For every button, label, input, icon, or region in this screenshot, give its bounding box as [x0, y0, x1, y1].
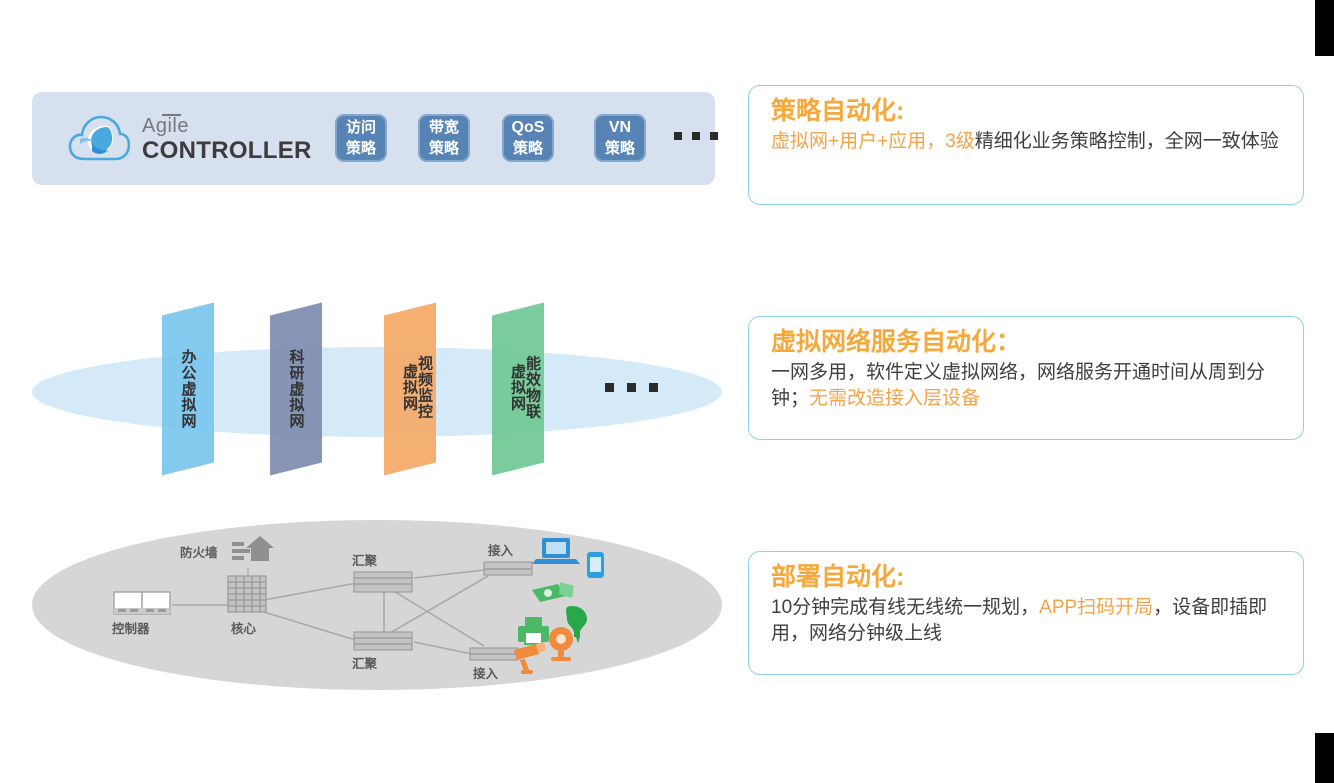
card-vn-service-body: 一网多用，软件定义虚拟网络，网络服务开通时间从周到分钟；无需改造接入层设备	[771, 360, 1287, 412]
logo-macron	[162, 114, 181, 116]
virtual-networks-diagram: 办公虚拟网 科研虚拟网 视频监控 虚拟网 能效物联 虚拟网	[32, 295, 722, 490]
vn-plane-office-label: 办公虚拟网	[181, 349, 196, 429]
aggregation-lower-icon	[354, 632, 412, 650]
cctv-camera-icon	[514, 642, 546, 674]
policy-chip-vn[interactable]: VN 策略	[594, 114, 646, 162]
card-reader-icon	[532, 582, 574, 602]
policy-chip-access-line2: 策略	[346, 138, 376, 159]
virtual-network-fabric-ellipse	[32, 347, 722, 437]
policy-chip-qos-line1: QoS	[512, 117, 545, 138]
controller-node-icon	[114, 592, 170, 614]
vn-plane-office: 办公虚拟网	[162, 303, 214, 476]
slide-canvas: Agile CONTROLLER 访问 策略 带宽 策略 QoS 策略 VN 策…	[0, 0, 1334, 783]
tablet-icon	[587, 552, 604, 578]
vn-plane-energy-iot: 能效物联 虚拟网	[492, 303, 544, 476]
policy-chip-access-line1: 访问	[346, 117, 376, 138]
card-deployment-automation: 部署自动化: 10分钟完成有线无线统一规划，APP扫码开局，设备即插即用，网络分…	[748, 551, 1304, 675]
vn-plane-video-surveillance: 视频监控 虚拟网	[384, 303, 436, 476]
more-dot	[692, 132, 700, 140]
printer-icon	[518, 617, 549, 644]
card-vn-service-title: 虚拟网络服务自动化：	[771, 327, 1287, 358]
access-upper-icon	[484, 562, 532, 575]
policy-chip-qos[interactable]: QoS 策略	[502, 114, 554, 162]
policy-chip-bandwidth-line2: 策略	[429, 138, 459, 159]
card-deployment-body: 10分钟完成有线无线统一规划，APP扫码开局，设备即插即用，网络分钟级上线	[771, 595, 1287, 647]
core-switch-icon	[228, 576, 266, 612]
more-dot	[674, 132, 682, 140]
topology-label-core: 核心	[231, 618, 256, 637]
policy-chip-qos-line2: 策略	[513, 138, 543, 159]
more-dot	[649, 383, 658, 392]
topology-label-controller: 控制器	[112, 618, 150, 637]
logo-controller-text: CONTROLLER	[142, 139, 312, 163]
topology-label-firewall: 防火墙	[180, 542, 218, 561]
vn-plane-energy-iot-sublabel: 虚拟网	[510, 363, 525, 411]
topology-label-aggregation-lower: 汇聚	[352, 653, 377, 672]
logo-wordmark: Agile CONTROLLER	[142, 116, 312, 163]
vn-plane-video-surveillance-sublabel: 虚拟网	[402, 363, 417, 411]
laptop-icon	[532, 538, 580, 564]
card-policy-automation-body: 虚拟网+用户+应用，3级精细化业务策略控制，全网一致体验	[771, 129, 1287, 155]
cloud-swirl-icon	[68, 113, 130, 165]
more-dot	[627, 383, 636, 392]
vn-plane-research-label: 科研虚拟网	[289, 349, 304, 429]
card-virtual-network-service-automation: 虚拟网络服务自动化： 一网多用，软件定义虚拟网络，网络服务开通时间从周到分钟；无…	[748, 316, 1304, 440]
policy-chip-bandwidth-line1: 带宽	[429, 117, 459, 138]
webcam-icon	[549, 627, 573, 661]
card-policy-automation: 策略自动化: 虚拟网+用户+应用，3级精细化业务策略控制，全网一致体验	[748, 85, 1304, 205]
card-policy-automation-rest: 精细化业务策略控制，全网一致体验	[975, 131, 1279, 152]
policy-chip-vn-line1: VN	[609, 117, 631, 138]
card-deployment-title: 部署自动化:	[771, 562, 1287, 593]
more-dot	[710, 132, 718, 140]
bottom-right-black-bar	[1315, 733, 1334, 783]
logo-agile-label: Agile	[142, 115, 189, 137]
network-topology-diagram: 控制器 防火墙 核心 汇聚 汇聚 接入 接入	[32, 520, 722, 690]
agile-controller-bar: Agile CONTROLLER 访问 策略 带宽 策略 QoS 策略 VN 策…	[32, 92, 715, 185]
logo-agile-text: Agile	[142, 116, 189, 136]
agile-controller-logo: Agile CONTROLLER	[68, 110, 318, 168]
card-deployment-highlight: APP扫码开局	[1039, 597, 1153, 618]
card-vn-service-highlight: 无需改造接入层设备	[809, 388, 980, 409]
card-deployment-prefix: 10分钟完成有线无线统一规划，	[771, 597, 1039, 618]
vn-plane-video-surveillance-label: 视频监控	[417, 355, 432, 419]
topology-label-access-upper: 接入	[488, 540, 513, 559]
topology-label-aggregation-upper: 汇聚	[352, 550, 377, 569]
vn-plane-energy-iot-label: 能效物联	[525, 355, 540, 419]
policy-chip-bandwidth[interactable]: 带宽 策略	[418, 114, 470, 162]
controller-more-dots[interactable]	[674, 132, 718, 140]
policy-chip-access[interactable]: 访问 策略	[335, 114, 387, 162]
vn-plane-research: 科研虚拟网	[270, 303, 322, 476]
top-right-black-bar	[1315, 0, 1334, 56]
card-policy-automation-highlight: 虚拟网+用户+应用，3级	[771, 131, 975, 152]
more-dot	[605, 383, 614, 392]
access-lower-icon	[470, 648, 518, 660]
firewall-node-icon	[232, 536, 274, 575]
virtual-networks-more-dots[interactable]	[605, 383, 658, 392]
topology-label-access-lower: 接入	[473, 663, 498, 682]
policy-chip-vn-line2: 策略	[605, 138, 635, 159]
card-policy-automation-title: 策略自动化:	[771, 96, 1287, 127]
aggregation-upper-icon	[354, 572, 412, 592]
